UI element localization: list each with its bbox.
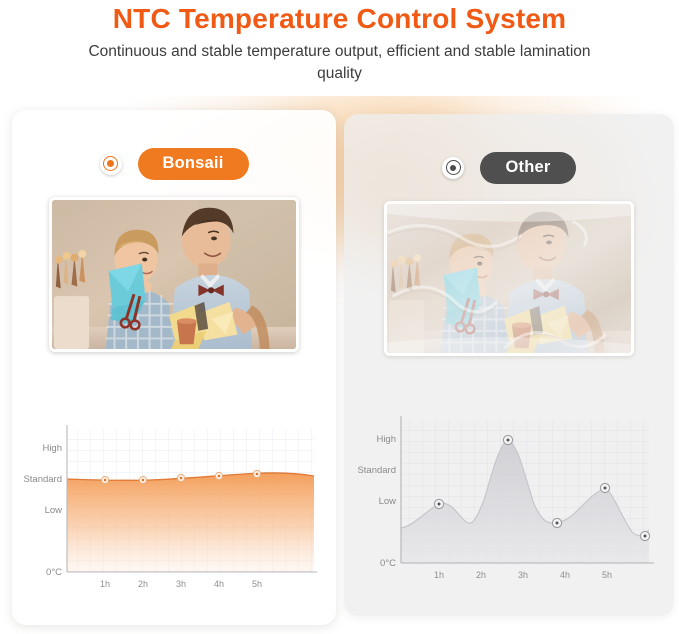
svg-text:1h: 1h	[100, 579, 110, 589]
radio-ring-icon	[103, 156, 118, 171]
page-title: NTC Temperature Control System	[0, 4, 679, 35]
svg-text:0°C: 0°C	[380, 558, 396, 569]
brand-label-other[interactable]: Other	[480, 152, 575, 184]
page-subtitle: Continuous and stable temperature output…	[75, 41, 605, 86]
radio-dot-icon	[107, 160, 114, 167]
svg-text:4h: 4h	[214, 579, 224, 589]
comparison-cards: Bonsaii	[0, 110, 679, 634]
header: NTC Temperature Control System Continuou…	[0, 0, 679, 86]
photo-bonsaii-wrap	[49, 197, 299, 352]
photo-bonsaii-image	[52, 200, 296, 349]
svg-text:5h: 5h	[602, 570, 612, 580]
radio-button-bonsaii[interactable]	[100, 153, 122, 175]
brand-label-bonsaii[interactable]: Bonsaii	[138, 148, 249, 180]
photo-other-image	[387, 204, 631, 353]
svg-text:0°C: 0°C	[46, 567, 62, 578]
radio-dot-icon	[450, 165, 456, 171]
svg-text:Low: Low	[45, 505, 63, 516]
svg-text:2h: 2h	[476, 570, 486, 580]
radio-ring-icon	[446, 160, 461, 175]
chart-bonsaii: High Standard Low 0°C 1h 2h 3h 4h 5h	[12, 417, 336, 597]
chart-other: High Standard Low 0°C 1h 2h 3h 4h 5h	[344, 408, 674, 588]
svg-text:3h: 3h	[176, 579, 186, 589]
svg-text:2h: 2h	[138, 579, 148, 589]
svg-text:High: High	[376, 434, 396, 445]
svg-text:5h: 5h	[252, 579, 262, 589]
svg-text:High: High	[42, 443, 62, 454]
svg-text:Standard: Standard	[23, 474, 62, 485]
comparison-card-other[interactable]: Other	[344, 114, 674, 616]
svg-text:3h: 3h	[518, 570, 528, 580]
photo-other-frame	[384, 201, 634, 356]
brand-row-other: Other	[344, 152, 674, 184]
radio-button-other[interactable]	[442, 157, 464, 179]
photo-bonsaii-frame	[49, 197, 299, 352]
comparison-card-bonsaii[interactable]: Bonsaii	[12, 110, 336, 625]
svg-text:4h: 4h	[560, 570, 570, 580]
svg-text:Low: Low	[379, 496, 397, 507]
svg-text:Standard: Standard	[357, 465, 396, 476]
svg-text:1h: 1h	[434, 570, 444, 580]
photo-other-wrap	[384, 201, 634, 356]
brand-row-bonsaii: Bonsaii	[12, 148, 336, 180]
